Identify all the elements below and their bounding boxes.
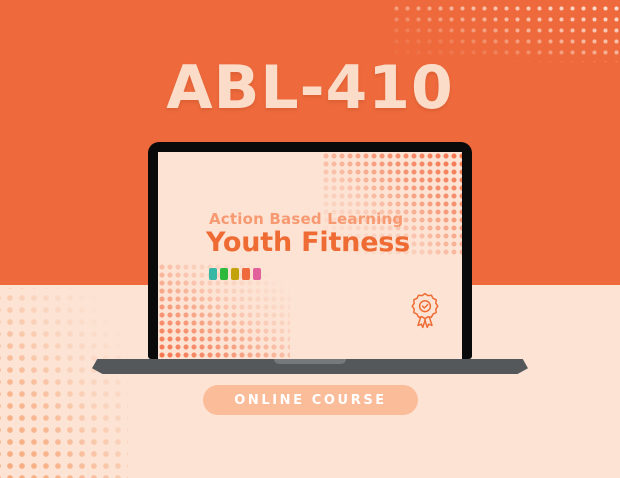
course-poster: ABL-410 Action Based Learning Youth Fitn… <box>0 0 620 478</box>
color-swatch-row <box>209 268 410 280</box>
swatch-orange <box>242 268 250 280</box>
slide-content: Action Based Learning Youth Fitness <box>206 212 410 280</box>
laptop-screen: Action Based Learning Youth Fitness <box>158 152 462 359</box>
page-title: ABL-410 <box>0 58 620 118</box>
online-course-badge-label: ONLINE COURSE <box>234 393 387 408</box>
slide-headline: Youth Fitness <box>206 229 410 257</box>
swatch-teal <box>209 268 217 280</box>
swatch-olive <box>231 268 239 280</box>
slide-eyebrow: Action Based Learning <box>209 212 410 227</box>
swatch-green <box>220 268 228 280</box>
laptop-mockup: Action Based Learning Youth Fitness <box>148 142 472 359</box>
laptop-base-notch <box>274 359 346 364</box>
swatch-pink <box>253 268 261 280</box>
award-ribbon-check-icon <box>410 292 440 335</box>
laptop-lid: Action Based Learning Youth Fitness <box>148 142 472 359</box>
online-course-badge[interactable]: ONLINE COURSE <box>203 385 418 415</box>
laptop-base <box>92 359 528 375</box>
